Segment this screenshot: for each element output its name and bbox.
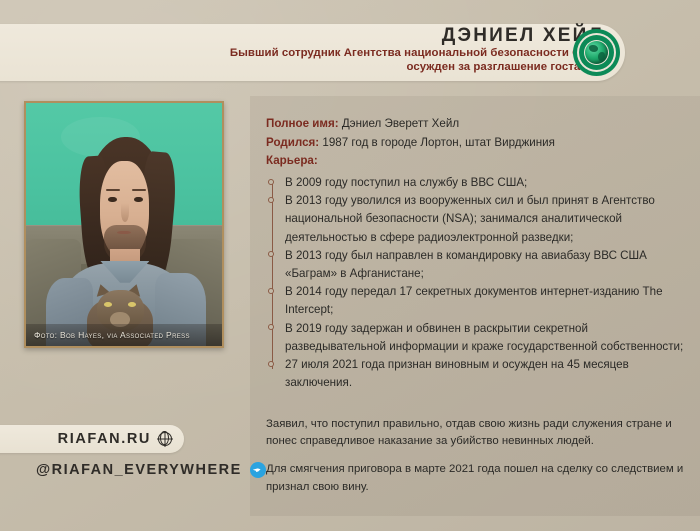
portrait-photo: Фото: Bob Hayes, via Associated Press [24, 101, 224, 348]
career-timeline: В 2009 году поступил на службу в ВВС США… [266, 173, 690, 391]
site-url-label: RIAFAN.RU [58, 431, 151, 447]
telegram-handle-label: @RIAFAN_EVERYWHERE [36, 462, 242, 478]
born-label: Родился: [266, 136, 319, 149]
timeline-item-text: 27 июля 2021 года признан виновным и осу… [285, 358, 629, 389]
timeline-item: В 2019 году задержан и обвинен в раскрыт… [266, 319, 690, 355]
photo-image [26, 103, 222, 346]
timeline-bullet-icon [268, 197, 274, 203]
photo-credit-caption: Фото: Bob Hayes, via Associated Press [26, 324, 222, 346]
born-row: Родился: 1987 год в городе Лортон, штат … [266, 134, 690, 152]
timeline-bullet-icon [268, 361, 274, 367]
header-subtitle-line-1: Бывший сотрудник Агентства национальной … [84, 47, 604, 61]
fullname-row: Полное имя: Дэниел Эверетт Хейл [266, 115, 690, 133]
timeline-item-text: В 2014 году передал 17 секретных докумен… [285, 285, 663, 316]
page-title: ДЭНИЕЛ ХЕЙЛ [84, 26, 604, 46]
closing-paragraph: Заявил, что поступил правильно, отдав св… [266, 416, 690, 450]
born-value: 1987 год в городе Лортон, штат Вирджиния [322, 136, 555, 149]
timeline-bullet-icon [268, 324, 274, 330]
career-label: Карьера: [266, 152, 690, 170]
site-brand-pill[interactable]: RIAFAN.RU [0, 425, 184, 453]
timeline-item-text: В 2013 году уволился из вооруженных сил … [285, 194, 655, 243]
timeline-item: В 2013 году уволился из вооруженных сил … [266, 191, 690, 246]
fullname-value: Дэниел Эверетт Хейл [342, 117, 459, 130]
timeline-item: В 2013 году был направлен в командировку… [266, 246, 690, 282]
timeline-item-text: В 2009 году поступил на службу в ВВС США… [285, 176, 527, 189]
globe-icon [158, 432, 172, 446]
header-subtitle: Бывший сотрудник Агентства национальной … [84, 47, 604, 74]
bio-info-block: Полное имя: Дэниел Эверетт Хейл Родился:… [266, 115, 690, 170]
timeline-item: 27 июля 2021 года признан виновным и осу… [266, 355, 690, 391]
closing-paragraph: Для смягчения приговора в марте 2021 год… [266, 461, 690, 495]
header-text-block: ДЭНИЕЛ ХЕЙЛ Бывший сотрудник Агентства н… [84, 26, 604, 74]
timeline-item-text: В 2013 году был направлен в командировку… [285, 249, 647, 280]
closing-statements: Заявил, что поступил правильно, отдав св… [266, 416, 690, 507]
timeline-bullet-icon [268, 288, 274, 294]
header-subtitle-line-2: осужден за разглашение гостайны [84, 61, 604, 75]
fullname-label: Полное имя: [266, 117, 339, 130]
timeline-item: В 2014 году передал 17 секретных докумен… [266, 282, 690, 318]
timeline-item: В 2009 году поступил на службу в ВВС США… [266, 173, 690, 191]
timeline-bullet-icon [268, 251, 274, 257]
telegram-icon [250, 462, 266, 478]
green-globe-logo-icon [573, 29, 620, 76]
timeline-item-text: В 2019 году задержан и обвинен в раскрыт… [285, 322, 683, 353]
timeline-bullet-icon [268, 179, 274, 185]
infographic-card: ДЭНИЕЛ ХЕЙЛ Бывший сотрудник Агентства н… [0, 0, 700, 531]
telegram-handle[interactable]: @RIAFAN_EVERYWHERE [36, 462, 266, 478]
